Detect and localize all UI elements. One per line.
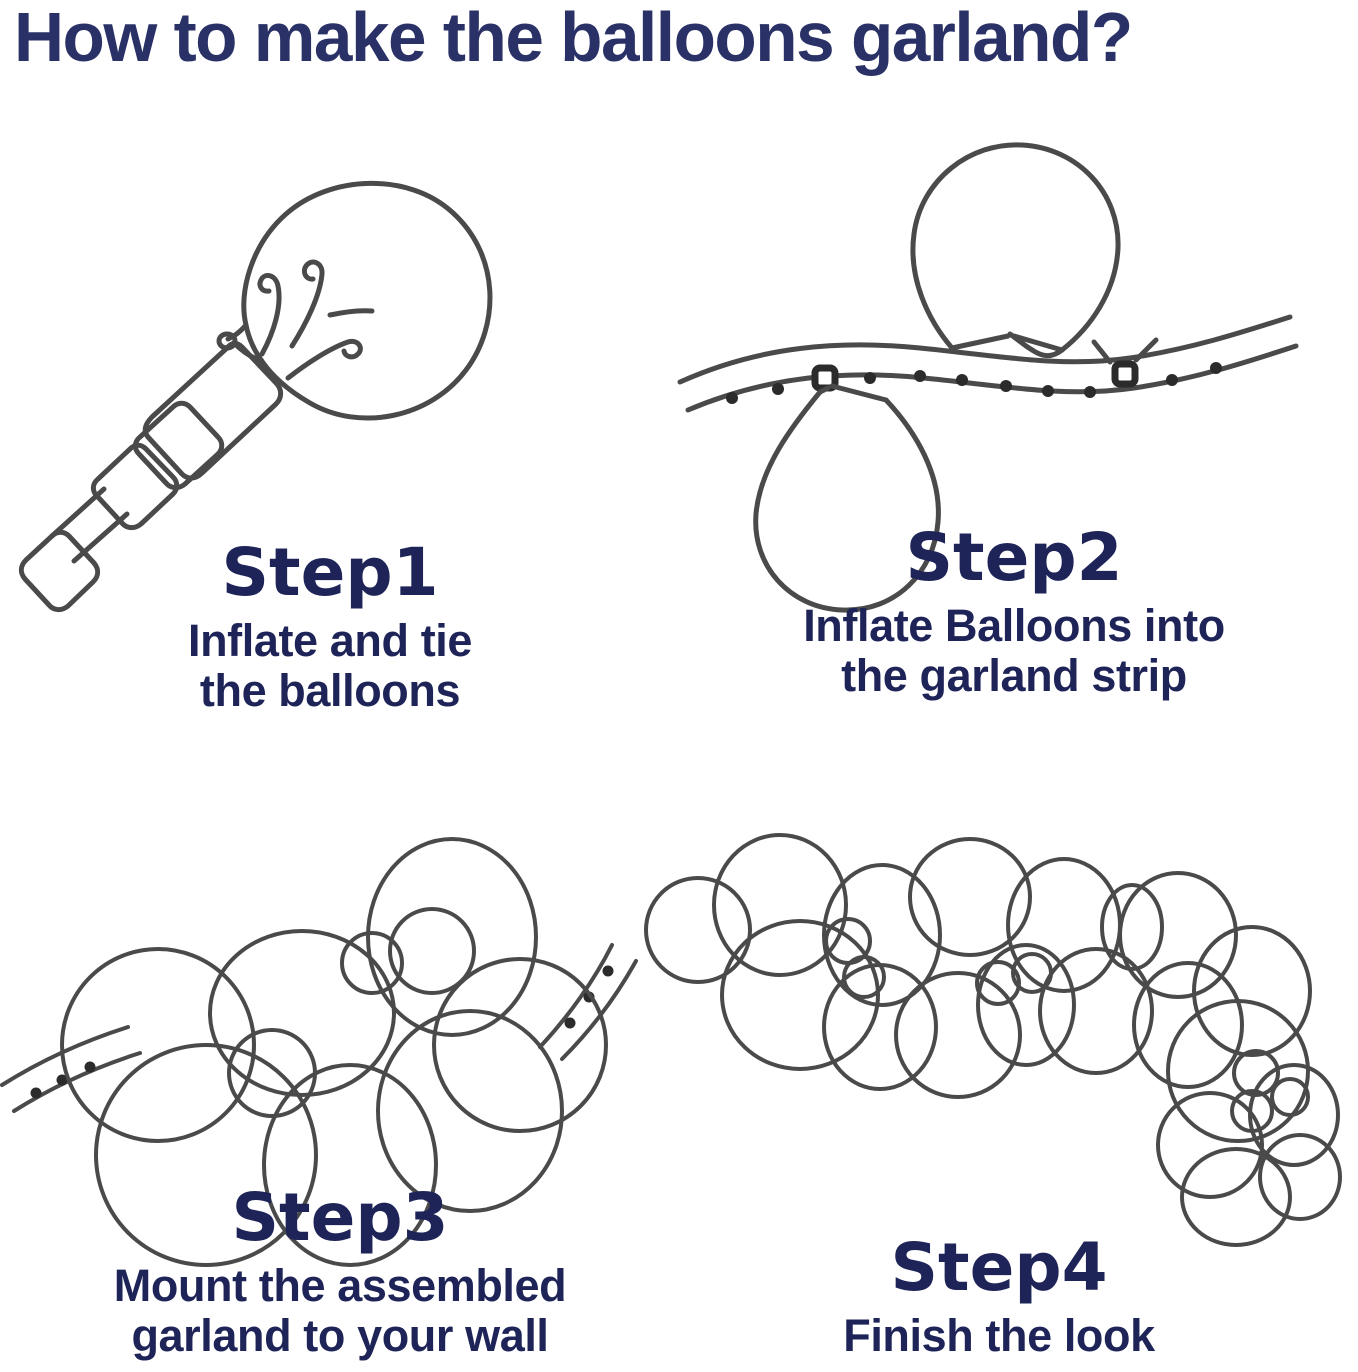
balloon-4-7: [896, 973, 1020, 1097]
balloon-3-3: [210, 931, 394, 1095]
step2-heading: Step2: [670, 525, 1358, 591]
step1-description: Inflate and tie the balloons: [0, 616, 660, 715]
airflow-swirl-3: [288, 341, 360, 378]
balloon-4-1: [646, 878, 750, 982]
step1-desc-line-1: Inflate and tie: [0, 616, 660, 666]
step4-description: Finish the look: [640, 1311, 1358, 1361]
step3-illustration: [0, 755, 680, 1195]
step1-heading: Step1: [0, 540, 660, 606]
balloon-small-3-3: [390, 909, 474, 993]
garland-strip-edge-top: [680, 317, 1290, 382]
balloon-small-4-2: [844, 957, 884, 997]
balloon-4-5: [824, 965, 936, 1089]
step1-desc-line-2: the balloons: [0, 666, 660, 716]
step4-caption: Step4 Finish the look: [640, 1235, 1358, 1361]
step3-description: Mount the assembled garland to your wall: [0, 1261, 680, 1360]
balloon-bottom-tie-right: [832, 386, 886, 400]
strip-hole-slot-right: [1115, 364, 1135, 384]
airflow-swirl-1: [260, 275, 279, 354]
step3-heading: Step3: [0, 1185, 680, 1251]
page-title: How to make the balloons garland?: [14, 2, 1341, 72]
balloon-top-outline: [913, 145, 1118, 356]
balloon-4-14: [1194, 927, 1310, 1055]
step4-heading: Step4: [640, 1235, 1358, 1301]
step2-illustration: [670, 110, 1358, 540]
balloon-4-15: [1168, 1001, 1308, 1141]
infographic-page: How to make the balloons garland?: [0, 0, 1358, 1372]
pump-shaft-line-1: [52, 489, 104, 536]
step4-illustration: [640, 815, 1358, 1235]
step-card-4: Step4 Finish the look: [640, 815, 1358, 1372]
balloon-top-neck-left: [952, 336, 1008, 348]
airflow-dash: [330, 311, 372, 315]
step2-desc-line-2: the garland strip: [670, 651, 1358, 701]
step-card-1: Step1 Inflate and tie the balloons: [0, 120, 660, 760]
pump-collar: [135, 403, 221, 487]
strip3-right-edge-left: [540, 945, 612, 1047]
balloon-4-19: [1260, 1135, 1340, 1219]
step-card-2: Step2 Inflate Balloons into the garland …: [670, 110, 1358, 760]
step3-desc-line-1: Mount the assembled: [0, 1261, 680, 1311]
step2-caption: Step2 Inflate Balloons into the garland …: [670, 525, 1358, 700]
step1-illustration: [0, 120, 660, 550]
step-card-3: Step3 Mount the assembled garland to you…: [0, 755, 680, 1372]
balloon-4-16: [1158, 1093, 1262, 1197]
step1-caption: Step1 Inflate and tie the balloons: [0, 540, 660, 715]
step2-desc-line-1: Inflate Balloons into: [670, 601, 1358, 651]
airflow-swirl-2: [292, 262, 322, 346]
step2-description: Inflate Balloons into the garland strip: [670, 601, 1358, 700]
balloon-4-12: [1120, 873, 1236, 997]
step3-caption: Step3 Mount the assembled garland to you…: [0, 1185, 680, 1360]
step4-desc-line-1: Finish the look: [640, 1311, 1358, 1361]
step3-desc-line-2: garland to your wall: [0, 1311, 680, 1361]
